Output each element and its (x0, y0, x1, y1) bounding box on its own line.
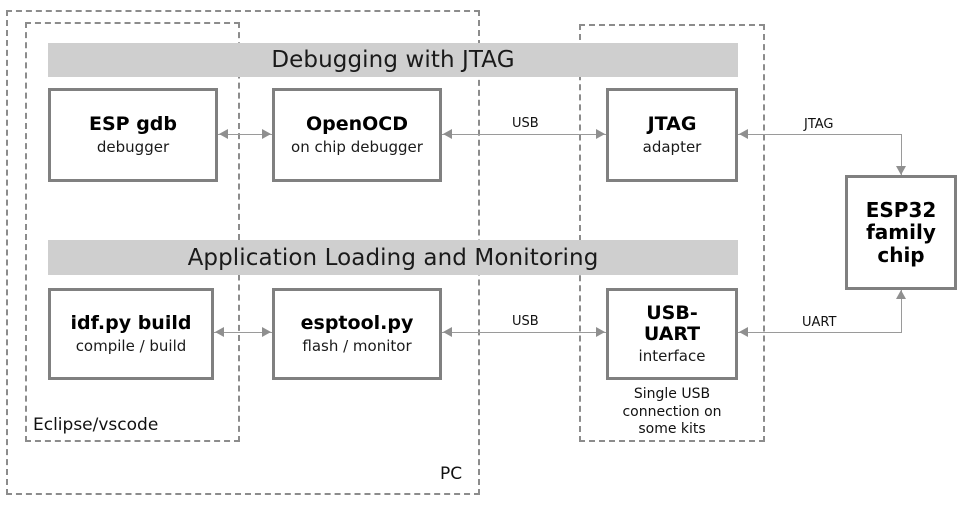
banner-debugging-label: Debugging with JTAG (271, 47, 514, 73)
banner-application-loading-label: Application Loading and Monitoring (188, 245, 599, 271)
node-jtag-adapter-subtitle: adapter (643, 139, 702, 156)
usb-uart-note: Single USB connection on some kits (608, 386, 736, 439)
node-esp-gdb-title: ESP gdb (89, 114, 177, 135)
connector-jtag-esp32-horizontal (738, 134, 902, 135)
connector-usbuart-esp32-arrow-left (739, 327, 748, 337)
group-ide-label: Eclipse/vscode (33, 415, 158, 435)
node-openocd-subtitle: on chip debugger (291, 139, 423, 156)
node-usb-uart[interactable]: USB- UART interface (606, 288, 738, 380)
connector-gdb-openocd-arrow-left (219, 129, 228, 139)
connector-openocd-jtag-arrow-right (596, 129, 605, 139)
node-jtag-adapter-title: JTAG (648, 114, 697, 135)
connector-openocd-jtag-arrow-left (443, 129, 452, 139)
node-usb-uart-title-line1: USB- (646, 303, 697, 324)
node-openocd-title: OpenOCD (306, 114, 408, 135)
connector-jtag-esp32-arrow-down (896, 166, 906, 175)
node-esptool-py[interactable]: esptool.py flash / monitor (272, 288, 442, 380)
node-esp32-title-line2: family (866, 221, 936, 243)
connector-openocd-jtag-label: USB (508, 116, 543, 131)
connector-esptool-usbuart-arrow-left (443, 327, 452, 337)
group-pc-label: PC (440, 464, 462, 484)
node-jtag-adapter[interactable]: JTAG adapter (606, 88, 738, 182)
connector-build-esptool-arrow-right (262, 327, 271, 337)
connector-usbuart-esp32-horizontal (738, 332, 902, 333)
connector-gdb-openocd-arrow-right (262, 129, 271, 139)
connector-build-esptool-arrow-left (215, 327, 224, 337)
node-usb-uart-title-line2: UART (644, 324, 700, 345)
node-esp32-family-chip[interactable]: ESP32 family chip (845, 175, 957, 290)
banner-application-loading: Application Loading and Monitoring (48, 240, 738, 275)
connector-jtag-esp32-arrow-left (739, 129, 748, 139)
connector-esptool-usbuart-label: USB (508, 314, 543, 329)
connector-esptool-usbuart-arrow-right (596, 327, 605, 337)
node-esp-gdb-subtitle: debugger (97, 139, 169, 156)
connector-usbuart-esp32-label: UART (798, 315, 840, 330)
node-esp32-title-line3: chip (877, 244, 924, 266)
connector-openocd-jtag (442, 134, 606, 135)
banner-debugging: Debugging with JTAG (48, 43, 738, 77)
node-openocd[interactable]: OpenOCD on chip debugger (272, 88, 442, 182)
node-esp-gdb[interactable]: ESP gdb debugger (48, 88, 218, 182)
connector-jtag-esp32-label: JTAG (800, 117, 838, 132)
connector-esptool-usbuart (442, 332, 606, 333)
connector-usbuart-esp32-arrow-up (896, 290, 906, 299)
node-esp32-title-line1: ESP32 (866, 199, 937, 221)
node-idf-py-build[interactable]: idf.py build compile / build (48, 288, 214, 380)
diagram-canvas: PC Eclipse/vscode Debugging with JTAG Ap… (0, 0, 966, 506)
node-usb-uart-subtitle: interface (639, 348, 706, 365)
node-idf-py-build-title: idf.py build (71, 313, 192, 334)
node-esptool-py-title: esptool.py (301, 313, 414, 334)
node-esptool-py-subtitle: flash / monitor (302, 338, 411, 355)
node-idf-py-build-subtitle: compile / build (76, 338, 187, 355)
